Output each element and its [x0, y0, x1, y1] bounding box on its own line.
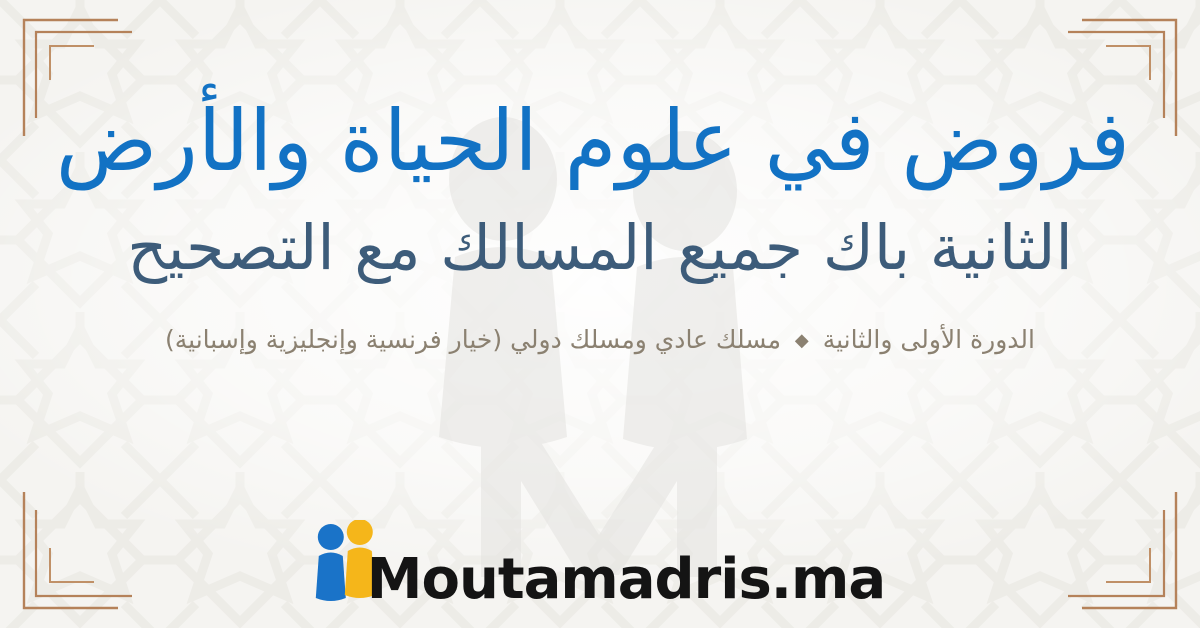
meta-track-label: مسلك عادي ومسلك دولي (خيار فرنسية وإنجلي… [165, 325, 781, 354]
page-subtitle: الثانية باك جميع المسالك مع التصحيح [90, 213, 1110, 282]
banner-meta: الدورة الأولى والثانية ◆ مسلك عادي ومسلك… [165, 324, 1035, 357]
promo-banner: فروض في علوم الحياة والأرض الثانية باك ج… [0, 0, 1200, 628]
meta-term-label: الدورة الأولى والثانية [823, 325, 1035, 354]
diamond-bullet-icon: ◆ [789, 330, 815, 351]
page-title: فروض في علوم الحياة والأرض [70, 96, 1130, 187]
brand-logo[interactable]: Moutamadris.ma [315, 520, 885, 606]
brand-name: Moutamadris.ma [367, 553, 885, 606]
